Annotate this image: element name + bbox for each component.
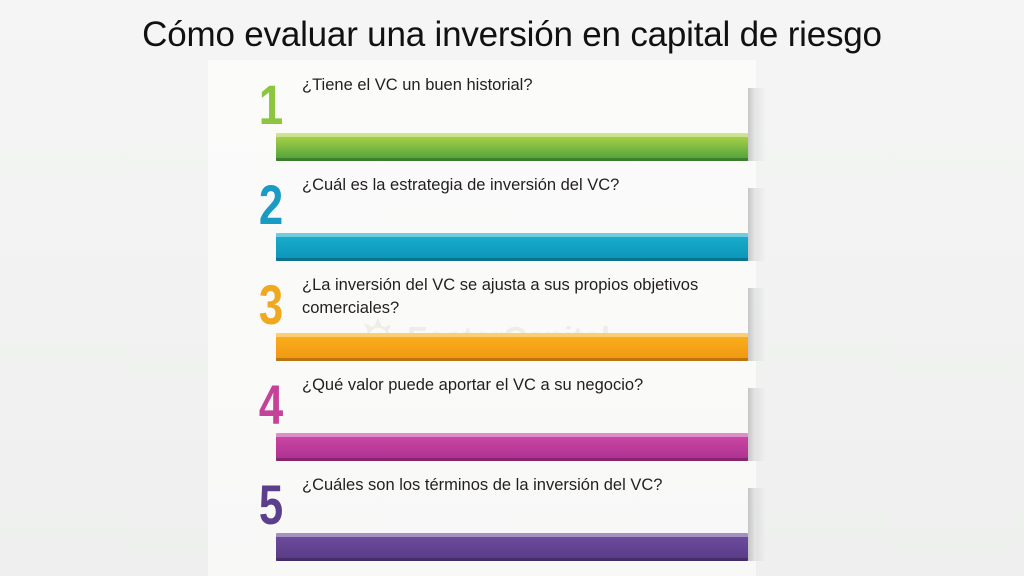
step-text-2: ¿Cuál es la estrategia de inversión del … bbox=[302, 174, 712, 197]
step-bar-fill-5 bbox=[276, 533, 748, 561]
step-text-3: ¿La inversión del VC se ajusta a sus pro… bbox=[302, 274, 712, 320]
step-text-4: ¿Qué valor puede aportar el VC a su nego… bbox=[302, 374, 712, 397]
step-bar-fill-3 bbox=[276, 333, 748, 361]
step-bar-4 bbox=[276, 433, 748, 461]
step-bar-5 bbox=[276, 533, 748, 561]
step-bar-2 bbox=[276, 233, 748, 261]
bar-gloss bbox=[276, 533, 748, 537]
step-number-3: 3 bbox=[253, 274, 289, 336]
step-text-1: ¿Tiene el VC un buen historial? bbox=[302, 74, 712, 97]
bar-gloss bbox=[276, 133, 748, 137]
step-number-4: 4 bbox=[253, 374, 289, 436]
page-title: Cómo evaluar una inversión en capital de… bbox=[0, 12, 1024, 58]
step-text-5: ¿Cuáles son los términos de la inversión… bbox=[302, 474, 712, 497]
step-number-2: 2 bbox=[253, 174, 289, 236]
step-bar-3 bbox=[276, 333, 748, 361]
step-bar-fill-1 bbox=[276, 133, 748, 161]
step-bar-1 bbox=[276, 133, 748, 161]
slide-canvas: Cómo evaluar una inversión en capital de… bbox=[0, 0, 1024, 576]
bar-gloss bbox=[276, 233, 748, 237]
bar-gloss bbox=[276, 433, 748, 437]
step-bar-fill-4 bbox=[276, 433, 748, 461]
step-bar-fill-2 bbox=[276, 233, 748, 261]
step-number-1: 1 bbox=[253, 74, 289, 136]
bar-gloss bbox=[276, 333, 748, 337]
step-number-5: 5 bbox=[253, 474, 289, 536]
